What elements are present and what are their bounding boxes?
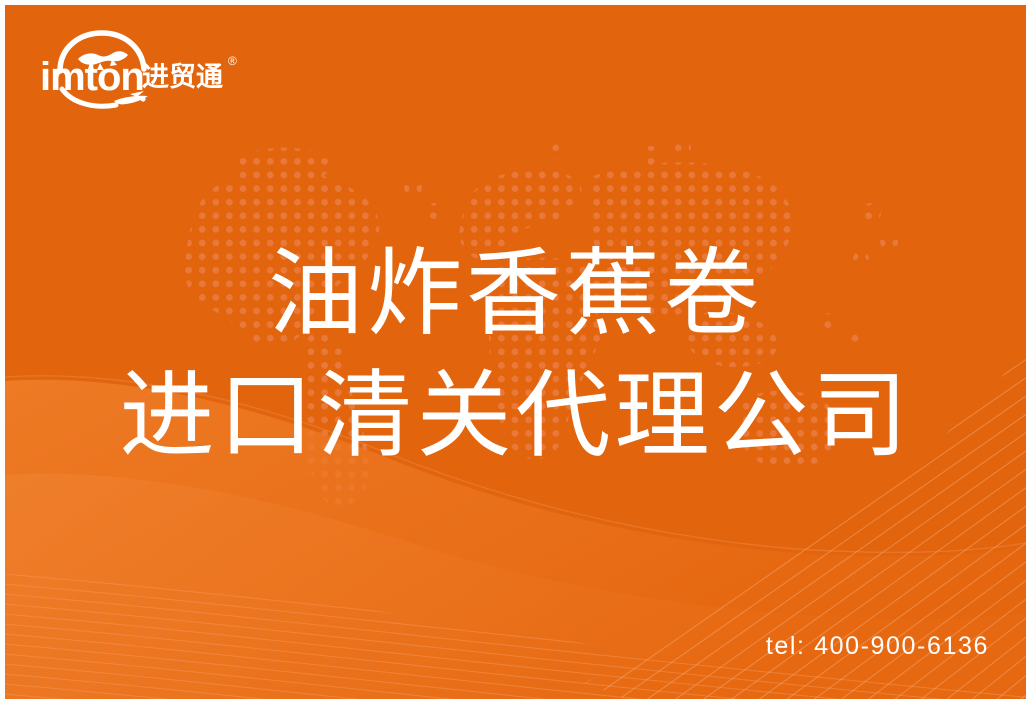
logo-latin-wordmark: imton [40,57,144,97]
headline-line-2: 进口清关代理公司 [5,355,1026,477]
registered-trademark-icon: ® [228,55,237,67]
headline-line-1: 油炸香蕉卷 [5,233,1026,355]
company-logo[interactable]: imton 进贸通 ® [38,29,238,109]
logo-chinese-wordmark: 进贸通 [142,61,223,93]
headline-block: 油炸香蕉卷 进口清关代理公司 [5,233,1026,477]
promo-banner: imton 进贸通 ® 油炸香蕉卷 进口清关代理公司 tel: 400-900-… [0,0,1031,704]
contact-telephone[interactable]: tel: 400-900-6136 [766,632,989,661]
